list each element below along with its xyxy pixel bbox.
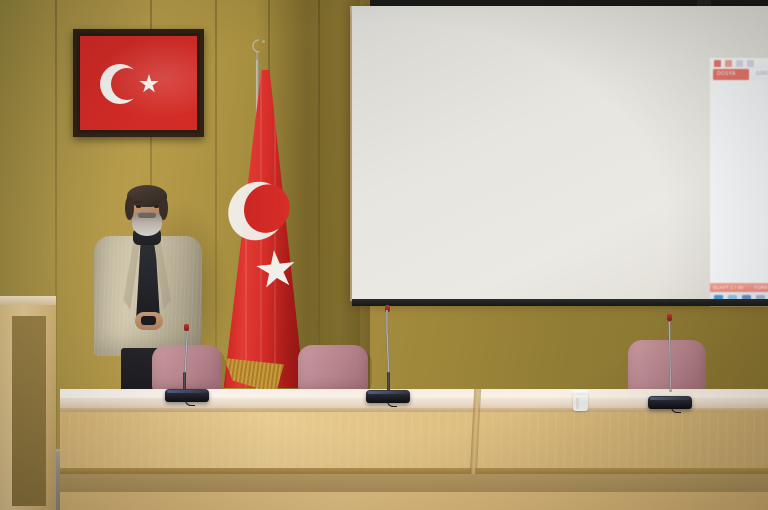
powerpoint-titlebar: ÖFKE YÖNETİMİ - PowerPoint xyxy=(710,58,768,69)
powerpoint-status-bar: SLAYT 1 / 30 TÜRKÇE AÇIKLAMALAR xyxy=(710,283,768,292)
powerpoint-app-icon xyxy=(714,60,721,67)
flag-field xyxy=(80,36,197,130)
crescent-icon xyxy=(100,64,140,104)
star-icon xyxy=(139,74,159,94)
redo-icon[interactable] xyxy=(747,60,754,67)
powerpoint-ribbon: DOSYA GİRİŞ EKLE TASARIM GEÇİŞLER ANİMAS… xyxy=(710,69,768,80)
undo-icon[interactable] xyxy=(736,60,743,67)
microphone-right xyxy=(648,396,692,409)
eyebrow-right xyxy=(153,201,161,203)
eyebrow-left xyxy=(134,201,142,203)
desk-lower-panel xyxy=(60,492,768,510)
save-icon[interactable] xyxy=(725,60,732,67)
eye-right xyxy=(154,205,159,208)
desk-front-panel xyxy=(60,412,768,470)
powerpoint-window[interactable]: ÖFKE YÖNETİMİ - PowerPoint DOSYA GİRİŞ E… xyxy=(710,58,768,306)
status-language: TÜRKÇE xyxy=(754,285,768,290)
tab-dosya[interactable]: DOSYA xyxy=(713,69,749,80)
desk-left-return-top xyxy=(0,296,56,305)
moustache xyxy=(138,213,156,218)
eye-left xyxy=(136,205,141,208)
paper-cup-lid xyxy=(572,390,589,395)
projection-screen: ÖFKE YÖNETİMİ - PowerPoint DOSYA GİRİŞ E… xyxy=(352,6,768,301)
presentation-clicker xyxy=(141,316,156,325)
powerpoint-slide-area: ÖFKE YÖNETİMİ Prof. Dr. Murad ATMACA Fır… xyxy=(710,80,768,283)
chair-center xyxy=(298,345,368,393)
crescent-finial-icon xyxy=(248,36,266,62)
tab-giris[interactable]: GİRİŞ xyxy=(756,71,768,77)
desk-left-return-inner xyxy=(12,316,46,506)
tab-dosya-label: DOSYA xyxy=(717,71,736,77)
framed-turkish-flag xyxy=(73,29,204,137)
screen-bottom-bar xyxy=(352,299,768,306)
conference-hall-photo: ÖFKE YÖNETİMİ - PowerPoint DOSYA GİRİŞ E… xyxy=(0,0,768,510)
paper-cup-reflection xyxy=(576,398,579,409)
status-slide-number: SLAYT 1 / 30 xyxy=(713,285,744,290)
